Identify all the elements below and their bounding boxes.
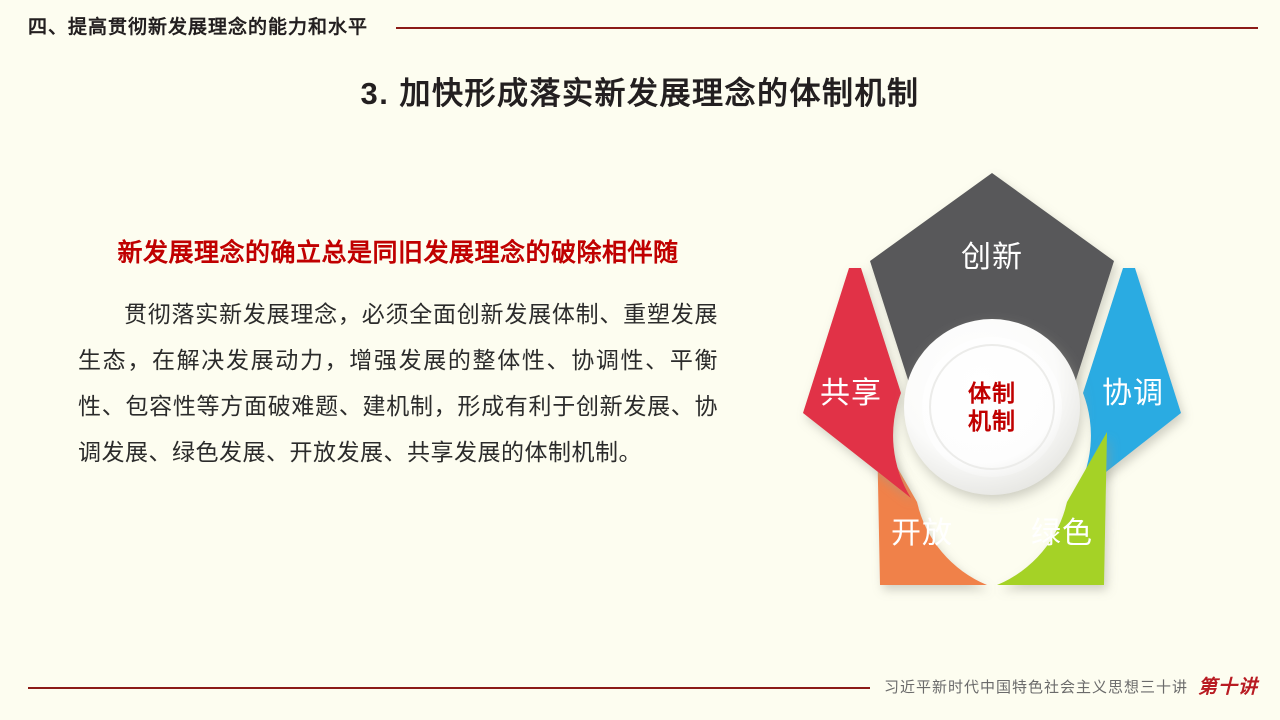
content-column: 新发展理念的确立总是同旧发展理念的破除相伴随 贯彻落实新发展理念，必须全面创新发… <box>78 238 718 475</box>
segment-label-sharing: 共享 <box>820 377 882 410</box>
body-paragraph: 贯彻落实新发展理念，必须全面创新发展体制、重塑发展生态，在解决发展动力，增强发展… <box>78 291 718 475</box>
hub-label-line2: 机制 <box>968 408 1016 434</box>
five-concepts-diagram: 创新 协调 绿色 开放 共享 <box>762 155 1222 615</box>
section-title: 四、提高贯彻新发展理念的能力和水平 <box>28 18 368 37</box>
lead-statement: 新发展理念的确立总是同旧发展理念的破除相伴随 <box>78 238 718 269</box>
segment-label-innovation: 创新 <box>961 241 1023 274</box>
lecture-badge: 第十讲 <box>1198 678 1258 697</box>
diagram-hub[interactable]: 体制 机制 <box>904 319 1080 495</box>
segment-label-green: 绿色 <box>1031 517 1093 550</box>
header-divider <box>396 27 1258 29</box>
slide-root: 四、提高贯彻新发展理念的能力和水平 3. 加快形成落实新发展理念的体制机制 新发… <box>0 0 1280 720</box>
footer-series-title: 习近平新时代中国特色社会主义思想三十讲 <box>884 680 1188 695</box>
footer-divider <box>28 687 870 689</box>
slide-header: 四、提高贯彻新发展理念的能力和水平 <box>28 10 1258 44</box>
hub-label-line1: 体制 <box>968 380 1016 406</box>
segment-label-openness: 开放 <box>891 517 953 550</box>
page-title: 3. 加快形成落实新发展理念的体制机制 <box>0 74 1280 114</box>
segment-label-coordination: 协调 <box>1102 377 1164 410</box>
slide-footer: 习近平新时代中国特色社会主义思想三十讲 第十讲 <box>28 672 1258 702</box>
